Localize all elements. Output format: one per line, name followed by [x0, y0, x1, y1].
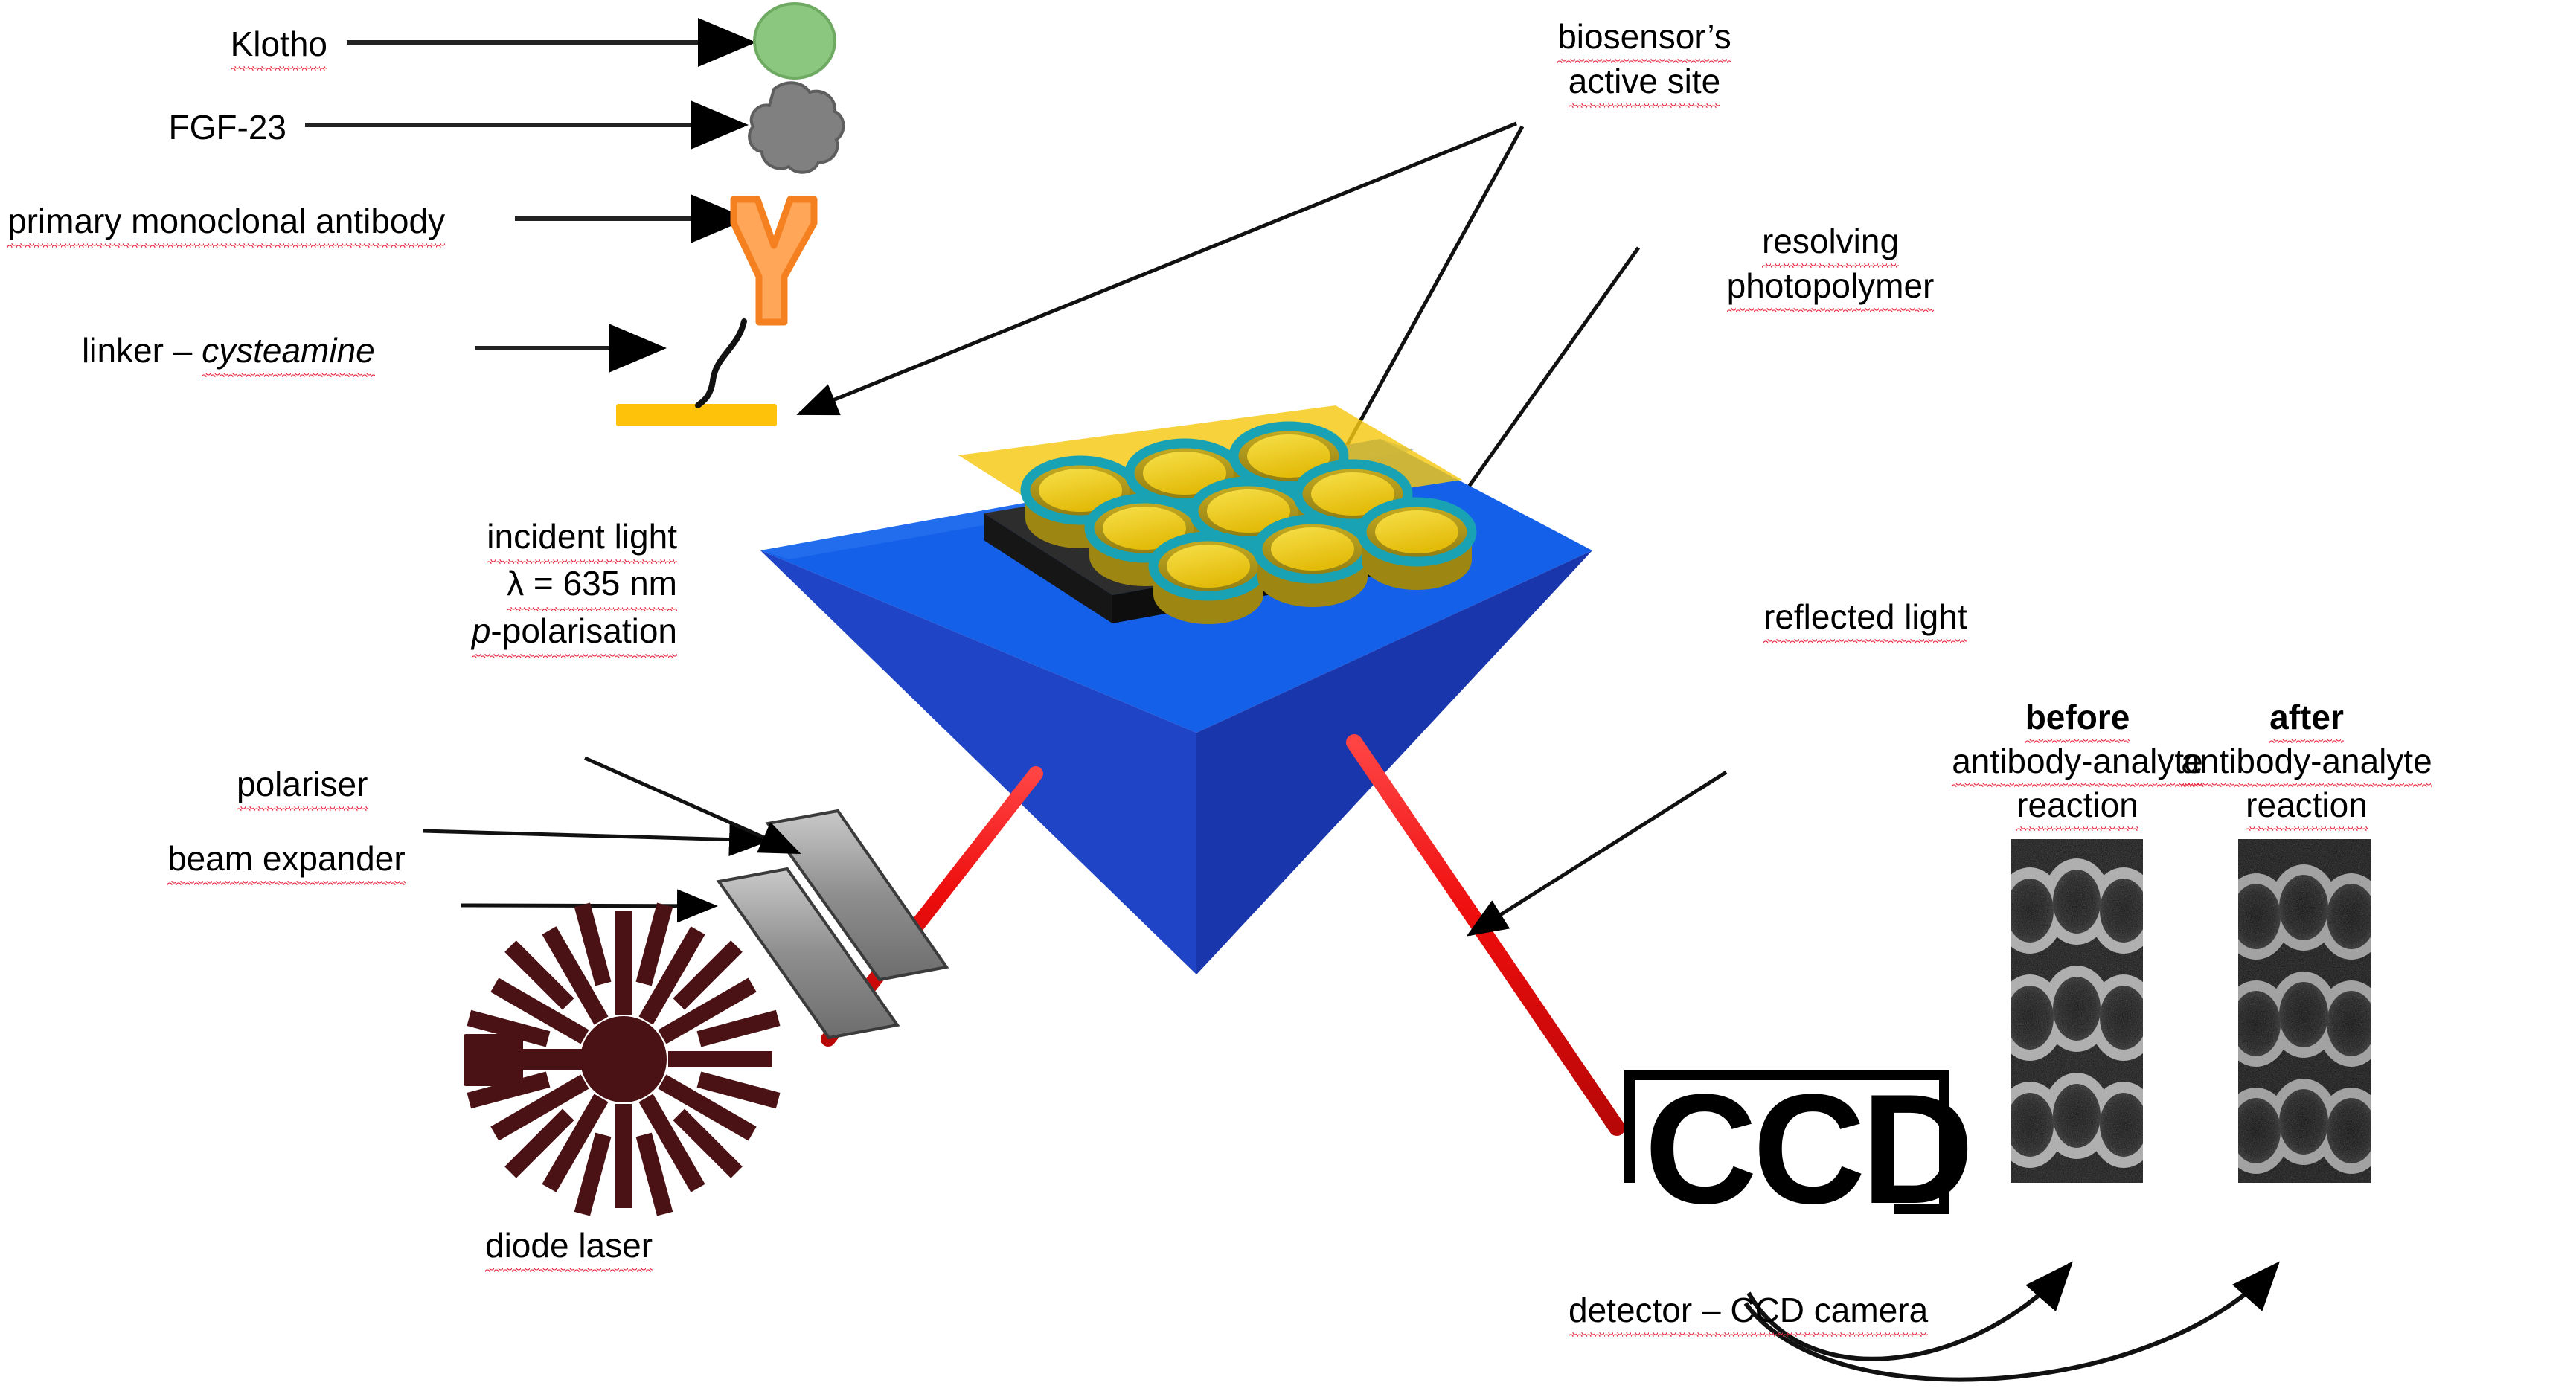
well [1153, 536, 1263, 624]
fgf23-molecule-icon [749, 83, 843, 172]
label-reflected-light: reflected light [1763, 595, 1967, 640]
arrow-reflected-light [1470, 772, 1726, 934]
label-ccd-after: after antibody-analyte reaction [2149, 696, 2464, 827]
arrow-polariser [423, 831, 766, 841]
label-biosensor-active-site: biosensor’s active site [1510, 15, 1778, 104]
leader-active-site-to-gold [800, 123, 1516, 414]
label-fgf23: FGF-23 [0, 106, 286, 150]
well [1257, 519, 1368, 607]
label-polariser: polariser [237, 762, 368, 807]
label-detector-ccd-camera: detector – CCD camera [1569, 1288, 1928, 1333]
label-incident-light: incident light λ = 635 nm p-polarisation [350, 513, 677, 655]
figure-canvas: CCD Klotho FGF-23 primary monoclonal ant… [0, 0, 2576, 1400]
well [1362, 502, 1472, 590]
ccd-wordmark: CCD [1644, 1071, 1970, 1227]
diode-laser-icon [464, 902, 781, 1216]
cysteamine-linker-chain [698, 321, 744, 405]
label-linker-cysteamine: linker – cysteamine [82, 329, 375, 373]
label-diode-laser: diode laser [485, 1224, 653, 1268]
label-beam-expander: beam expander [167, 837, 406, 882]
label-klotho: Klotho [0, 22, 327, 67]
reflected-beam [1354, 742, 1617, 1128]
ccd-image-after [2238, 839, 2371, 1183]
antibody-y-icon [734, 199, 814, 322]
klotho-molecule-icon [754, 4, 835, 78]
label-primary-antibody: primary monoclonal antibody [7, 199, 445, 244]
label-resolving-photopolymer: resolving photopolymer [1674, 219, 1987, 309]
ccd-image-before [2011, 839, 2143, 1183]
molecule-pointer-arrows [305, 42, 752, 348]
